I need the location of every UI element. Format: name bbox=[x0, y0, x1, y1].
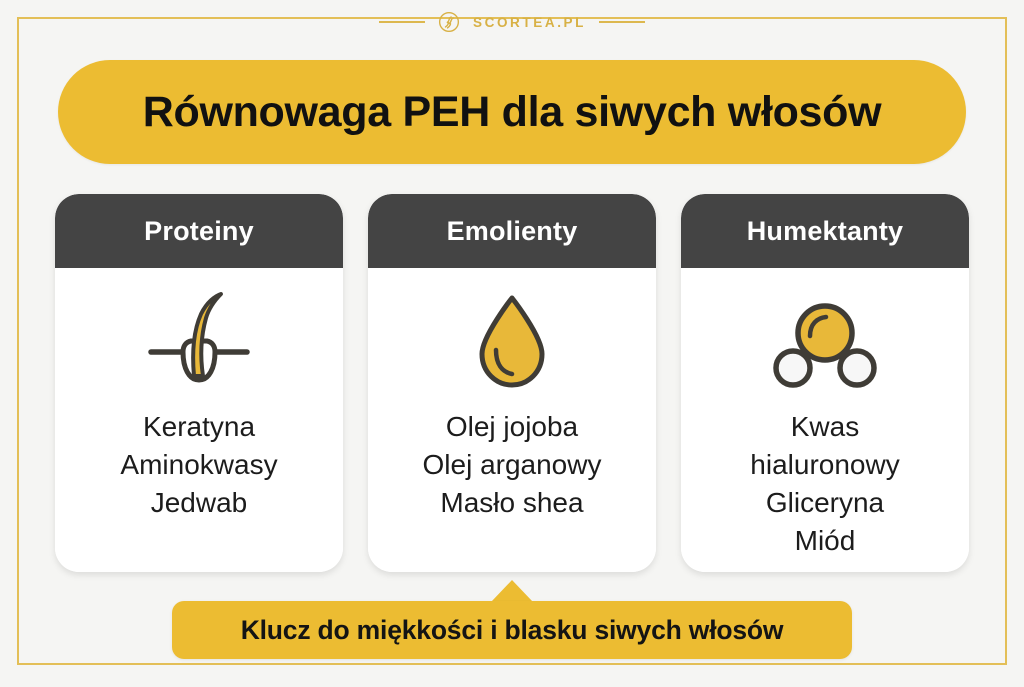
footer-banner: Klucz do miękkości i blasku siwych włosó… bbox=[172, 601, 852, 659]
footer-text: Klucz do miękkości i blasku siwych włosó… bbox=[241, 615, 784, 646]
oil-droplet-icon bbox=[452, 284, 572, 402]
category-card-humektanty: Humektanty bbox=[681, 194, 969, 572]
card-title: Humektanty bbox=[747, 216, 904, 247]
brand-header: SCORTEA.PL bbox=[0, 8, 1024, 36]
infographic-page: SCORTEA.PL Równowaga PEH dla siwych włos… bbox=[0, 0, 1024, 687]
card-body-emolienty: Olej jojoba Olej arganowy Masło shea bbox=[368, 268, 656, 572]
category-card-proteiny: Proteiny Keratyna Aminokwa bbox=[55, 194, 343, 572]
water-molecule-icon bbox=[760, 284, 890, 402]
scortea-monogram-icon bbox=[438, 11, 460, 33]
list-item: Olej arganowy bbox=[423, 446, 602, 484]
card-body-proteiny: Keratyna Aminokwasy Jedwab bbox=[55, 268, 343, 572]
brand-name: SCORTEA.PL bbox=[473, 15, 586, 30]
list-item: Masło shea bbox=[423, 484, 602, 522]
card-title: Proteiny bbox=[144, 216, 254, 247]
card-header-emolienty: Emolienty bbox=[368, 194, 656, 268]
list-item: hialuronowy bbox=[750, 446, 899, 484]
list-item: Kwas bbox=[750, 408, 899, 446]
list-item: Keratyna bbox=[120, 408, 277, 446]
list-item: Aminokwasy bbox=[120, 446, 277, 484]
hair-follicle-icon bbox=[139, 284, 259, 402]
list-item: Miód bbox=[750, 522, 899, 560]
card-title: Emolienty bbox=[447, 216, 578, 247]
category-card-emolienty: Emolienty Olej jojoba Olej arganowy Masł… bbox=[368, 194, 656, 572]
list-item: Gliceryna bbox=[750, 484, 899, 522]
list-item: Jedwab bbox=[120, 484, 277, 522]
card-body-humektanty: Kwas hialuronowy Gliceryna Miód bbox=[681, 268, 969, 572]
callout-pointer-icon bbox=[491, 580, 533, 602]
divider-line-left-icon bbox=[379, 21, 425, 23]
card-item-list-humektanty: Kwas hialuronowy Gliceryna Miód bbox=[740, 408, 909, 560]
list-item: Olej jojoba bbox=[423, 408, 602, 446]
title-banner: Równowaga PEH dla siwych włosów bbox=[58, 60, 966, 164]
card-item-list-emolienty: Olej jojoba Olej arganowy Masło shea bbox=[413, 408, 612, 522]
card-header-humektanty: Humektanty bbox=[681, 194, 969, 268]
footer-callout: Klucz do miękkości i blasku siwych włosó… bbox=[172, 580, 852, 666]
page-title: Równowaga PEH dla siwych włosów bbox=[143, 88, 882, 137]
divider-line-right-icon bbox=[599, 21, 645, 23]
card-header-proteiny: Proteiny bbox=[55, 194, 343, 268]
categories-row: Proteiny Keratyna Aminokwa bbox=[55, 194, 969, 572]
card-item-list-proteiny: Keratyna Aminokwasy Jedwab bbox=[110, 408, 287, 522]
